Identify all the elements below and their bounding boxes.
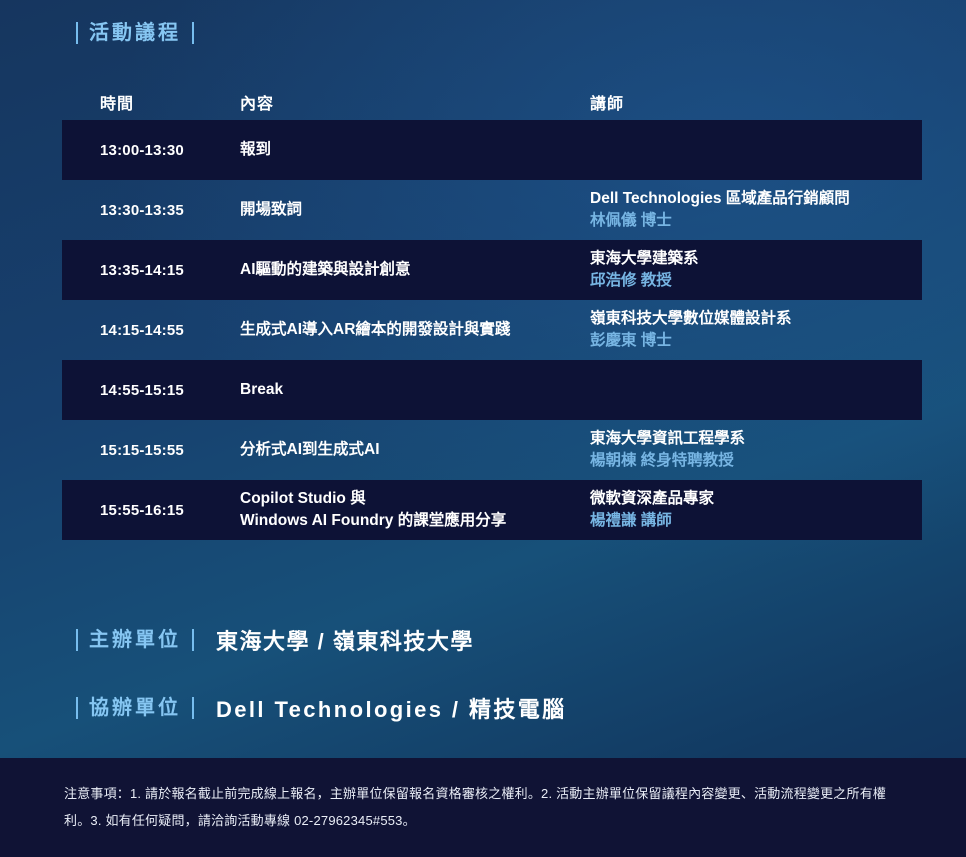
agenda-row-speaker-org: 東海大學建築系 — [590, 248, 922, 270]
agenda-row-topic: Break — [240, 379, 590, 401]
agenda-row-speaker: 微軟資深產品專家楊禮謙 講師 — [590, 488, 922, 532]
bracket-right-icon — [192, 22, 194, 44]
event-agenda-poster: 活動議程 時間 內容 講師 13:00-13:30報到13:30-13:35開場… — [0, 0, 966, 857]
agenda-row-speaker-org: 微軟資深產品專家 — [590, 488, 922, 510]
agenda-row-topic: 報到 — [240, 139, 590, 161]
bracket-right-icon — [192, 629, 194, 651]
agenda-row-topic: Copilot Studio 與Windows AI Foundry 的課堂應用… — [240, 488, 590, 533]
column-header-speaker: 講師 — [590, 90, 922, 114]
agenda-table: 時間 內容 講師 13:00-13:30報到13:30-13:35開場致詞Del… — [62, 84, 922, 540]
agenda-row-speaker-org: 東海大學資訊工程學系 — [590, 428, 922, 450]
agenda-row-speaker: Dell Technologies 區域產品行銷顧問林佩儀 博士 — [590, 188, 922, 232]
agenda-row-time: 15:15-15:55 — [100, 442, 240, 459]
cohost-organization-row: 協辦單位 Dell Technologies / 精技電腦 — [76, 692, 567, 724]
agenda-heading-label: 活動議程 — [78, 23, 192, 43]
agenda-table-header: 時間 內容 講師 — [62, 84, 922, 120]
agenda-row-speaker-name: 林佩儀 博士 — [590, 210, 922, 232]
agenda-row-speaker-name: 彭慶東 博士 — [590, 330, 922, 352]
bracket-right-icon — [192, 697, 194, 719]
agenda-row-topic: 開場致詞 — [240, 199, 590, 221]
host-organization-row: 主辦單位 東海大學 / 嶺東科技大學 — [76, 624, 474, 656]
notice-text: 注意事項：1. 請於報名截止前完成線上報名，主辦單位保留報名資格審核之權利。2.… — [64, 781, 902, 834]
agenda-row-time: 15:55-16:15 — [100, 502, 240, 519]
agenda-row-time: 14:15-14:55 — [100, 322, 240, 339]
agenda-row-speaker-name: 楊禮謙 講師 — [590, 510, 922, 532]
agenda-row: 14:55-15:15Break — [62, 360, 922, 420]
agenda-row-speaker-name: 邱浩修 教授 — [590, 270, 922, 292]
agenda-row-time: 13:00-13:30 — [100, 142, 240, 159]
agenda-row: 14:15-14:55生成式AI導入AR繪本的開發設計與實踐嶺東科技大學數位媒體… — [62, 300, 922, 360]
host-heading-label: 主辦單位 — [78, 630, 192, 650]
agenda-row-topic: AI驅動的建築與設計創意 — [240, 259, 590, 281]
agenda-row: 15:55-16:15Copilot Studio 與Windows AI Fo… — [62, 480, 922, 540]
agenda-row-time: 13:35-14:15 — [100, 262, 240, 279]
agenda-row-speaker: 東海大學資訊工程學系楊朝棟 終身特聘教授 — [590, 428, 922, 472]
agenda-rows: 13:00-13:30報到13:30-13:35開場致詞Dell Technol… — [62, 120, 922, 540]
agenda-row-speaker: 嶺東科技大學數位媒體設計系彭慶東 博士 — [590, 308, 922, 352]
cohost-heading-label: 協辦單位 — [78, 698, 192, 718]
cohost-organization-value: Dell Technologies / 精技電腦 — [216, 692, 567, 724]
agenda-row: 13:35-14:15AI驅動的建築與設計創意東海大學建築系邱浩修 教授 — [62, 240, 922, 300]
agenda-row: 13:00-13:30報到 — [62, 120, 922, 180]
agenda-row-speaker-org: 嶺東科技大學數位媒體設計系 — [590, 308, 922, 330]
column-header-topic: 內容 — [240, 90, 590, 114]
agenda-row-topic: 分析式AI到生成式AI — [240, 439, 590, 461]
agenda-row-topic: 生成式AI導入AR繪本的開發設計與實踐 — [240, 319, 590, 341]
agenda-row-speaker-org: Dell Technologies 區域產品行銷顧問 — [590, 188, 922, 210]
agenda-row-speaker-name: 楊朝棟 終身特聘教授 — [590, 450, 922, 472]
agenda-section-heading: 活動議程 — [76, 22, 194, 44]
agenda-row-time: 14:55-15:15 — [100, 382, 240, 399]
agenda-row: 13:30-13:35開場致詞Dell Technologies 區域產品行銷顧… — [62, 180, 922, 240]
host-organization-value: 東海大學 / 嶺東科技大學 — [216, 624, 474, 656]
column-header-time: 時間 — [100, 90, 240, 114]
agenda-row-time: 13:30-13:35 — [100, 202, 240, 219]
agenda-row-speaker: 東海大學建築系邱浩修 教授 — [590, 248, 922, 292]
agenda-row: 15:15-15:55分析式AI到生成式AI東海大學資訊工程學系楊朝棟 終身特聘… — [62, 420, 922, 480]
